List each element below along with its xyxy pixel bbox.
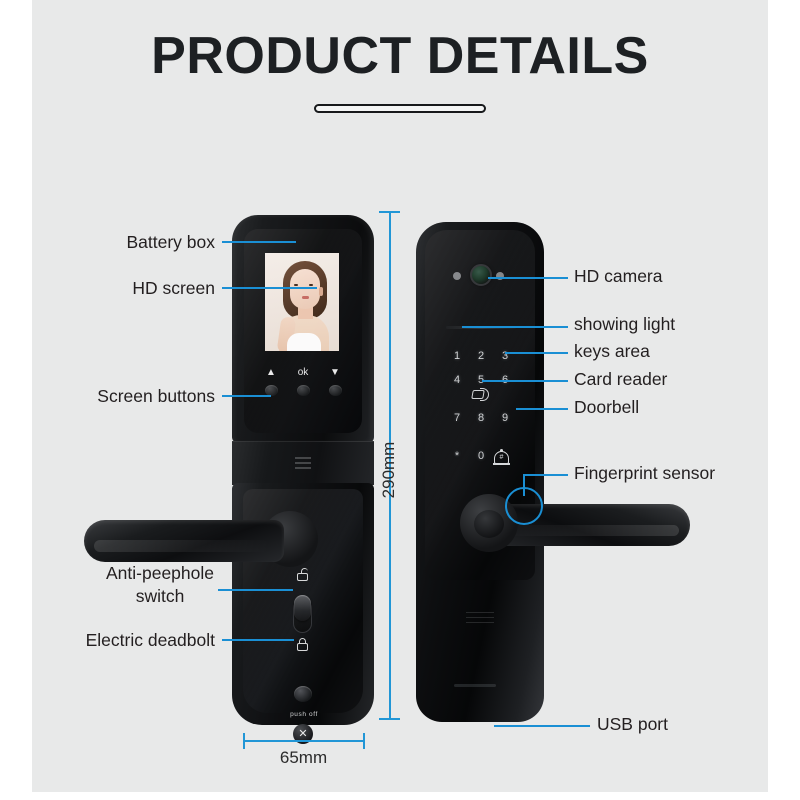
door-handle-left[interactable] <box>84 520 284 562</box>
portrait-face <box>290 269 320 309</box>
key-7[interactable]: 7 <box>446 412 468 424</box>
push-off-label: push off <box>287 711 321 718</box>
dimension-label-height: 290mm <box>379 435 399 505</box>
portrait-eye-left <box>294 284 298 286</box>
leader-doorbell <box>516 408 568 410</box>
dimension-tick-bottom <box>379 718 400 720</box>
speaker-band <box>232 441 374 485</box>
screen-button-down[interactable] <box>329 385 342 396</box>
unlock-icon <box>296 568 309 581</box>
sensor-dot-left <box>453 272 461 280</box>
hd-screen-display <box>265 253 339 351</box>
label-anti-peephole-switch: Anti-peephole switch <box>85 562 235 608</box>
key-9[interactable]: 9 <box>494 412 516 424</box>
portrait-clothing <box>287 333 321 351</box>
label-battery-box: Battery box <box>110 231 215 254</box>
key-2[interactable]: 2 <box>470 350 492 362</box>
leader-screen-buttons <box>222 395 271 397</box>
screen-button-ok[interactable] <box>297 385 310 396</box>
dimension-tick-left <box>243 733 245 749</box>
key-star[interactable]: * <box>446 450 468 462</box>
doorbell-hash: # <box>499 454 504 461</box>
label-hd-camera: HD camera <box>574 265 663 288</box>
key-8[interactable]: 8 <box>470 412 492 424</box>
key-1[interactable]: 1 <box>446 350 468 362</box>
dimension-tick-right <box>363 733 365 749</box>
dimension-label-width: 65mm <box>243 748 364 768</box>
doorbell-icon[interactable]: # <box>493 449 510 468</box>
leader-card-reader <box>482 380 568 382</box>
label-doorbell: Doorbell <box>574 396 639 419</box>
keypad-area[interactable]: 1 2 3 4 5 6 7 8 9 * 0 # <box>446 350 516 472</box>
leader-electric-deadbolt <box>222 639 294 641</box>
speaker-icon <box>295 454 311 471</box>
outdoor-housing: 1 2 3 4 5 6 7 8 9 * 0 # <box>416 222 544 722</box>
key-0[interactable]: 0 <box>470 450 492 462</box>
label-keys-area: keys area <box>574 340 650 363</box>
dimension-line-width <box>243 740 364 742</box>
up-arrow-icon: ▲ <box>262 367 280 378</box>
device-indoor-panel: ▲ ok ▼ push off ✕ <box>232 215 374 725</box>
leader-hd-camera <box>488 277 568 279</box>
leader-keys-area <box>505 352 568 354</box>
card-reader-icon[interactable] <box>472 388 490 402</box>
label-fingerprint-sensor: Fingerprint sensor <box>574 462 715 485</box>
battery-box-housing: ▲ ok ▼ <box>232 215 374 443</box>
leader-showing-light <box>462 326 568 328</box>
label-electric-deadbolt: Electric deadbolt <box>62 629 215 652</box>
portrait-lips <box>302 296 309 299</box>
leader-anti-peephole-switch <box>218 589 293 591</box>
electric-deadbolt-button[interactable] <box>294 686 312 702</box>
title-divider <box>314 104 486 113</box>
leader-battery-box <box>222 241 296 243</box>
anti-peephole-switch-knob[interactable] <box>294 595 311 621</box>
label-usb-port: USB port <box>597 713 668 736</box>
label-card-reader: Card reader <box>574 368 667 391</box>
label-hd-screen: HD screen <box>110 277 215 300</box>
key-4[interactable]: 4 <box>446 374 468 386</box>
lock-icon <box>296 638 309 651</box>
hd-camera-lens <box>470 264 492 286</box>
label-screen-buttons: Screen buttons <box>78 385 215 408</box>
leader-hd-screen <box>222 287 317 289</box>
usb-port-slot <box>454 684 496 687</box>
label-showing-light: showing light <box>574 313 675 336</box>
device-outdoor-panel: 1 2 3 4 5 6 7 8 9 * 0 # <box>416 222 544 722</box>
page-title: PRODUCT DETAILS <box>0 26 800 86</box>
fingerprint-sensor-pad[interactable] <box>474 510 504 538</box>
product-details-infographic: PRODUCT DETAILS ▲ ok ▼ <box>0 0 800 800</box>
ok-label: ok <box>294 367 312 378</box>
down-arrow-icon: ▼ <box>326 367 344 378</box>
dimension-tick-top <box>379 211 400 213</box>
portrait-eye-right <box>309 284 313 286</box>
portrait-ear <box>319 287 323 296</box>
outdoor-grille-icon <box>466 612 494 628</box>
leader-usb-port <box>494 725 590 727</box>
leader-fingerprint-horizontal <box>523 474 568 476</box>
leader-fingerprint-vertical <box>523 474 525 496</box>
